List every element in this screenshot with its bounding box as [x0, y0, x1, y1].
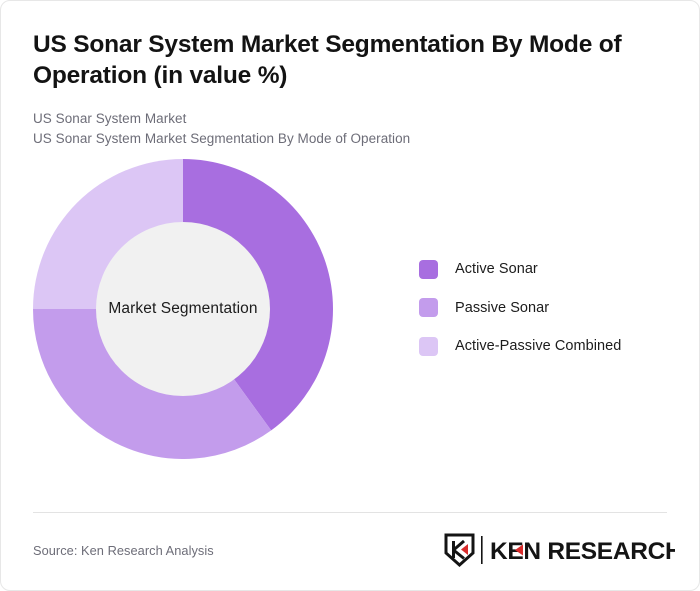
legend-item-passive-sonar[interactable]: Passive Sonar [419, 288, 621, 327]
source-note: Source: Ken Research Analysis [33, 543, 214, 558]
legend-label-passive-sonar: Passive Sonar [455, 300, 549, 316]
donut-svg [33, 159, 333, 459]
legend-item-active-passive-combined[interactable]: Active-Passive Combined [419, 327, 621, 366]
brand-logo-divider [481, 536, 483, 564]
legend-swatch-icon-passive-sonar [419, 298, 438, 317]
donut-chart: Market Segmentation [33, 159, 333, 459]
legend-label-active-sonar: Active Sonar [455, 261, 538, 277]
chart-header: US Sonar System Market Segmentation By M… [1, 1, 699, 150]
brand-mark-icon [446, 535, 473, 565]
chart-footer: Source: Ken Research Analysis KEN RESEAR… [33, 530, 675, 570]
subtitle-line-market: US Sonar System Market [33, 109, 667, 130]
chart-area: Market Segmentation Active Sonar Passive… [1, 150, 699, 480]
chart-card: US Sonar System Market Segmentation By M… [0, 0, 700, 591]
page-title: US Sonar System Market Segmentation By M… [33, 29, 643, 92]
legend-swatch-icon-active-sonar [419, 260, 438, 279]
ken-research-logo: KEN RESEARCH [443, 533, 675, 567]
chart-legend: Active Sonar Passive Sonar Active-Passiv… [419, 250, 621, 366]
subtitle-block: US Sonar System Market US Sonar System M… [33, 109, 667, 150]
legend-label-active-passive-combined: Active-Passive Combined [455, 338, 621, 354]
footer-divider [33, 512, 667, 513]
donut-hole [96, 222, 270, 396]
legend-item-active-sonar[interactable]: Active Sonar [419, 250, 621, 289]
legend-swatch-icon-active-passive-combined [419, 337, 438, 356]
brand-logo-svg: KEN RESEARCH [443, 533, 675, 567]
subtitle-line-segmentation: US Sonar System Market Segmentation By M… [33, 129, 667, 150]
